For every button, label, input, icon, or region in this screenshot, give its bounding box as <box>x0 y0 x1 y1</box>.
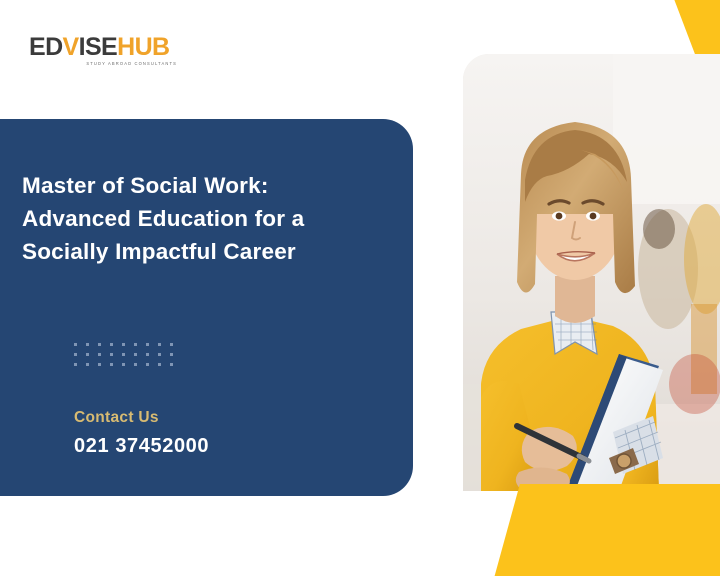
headline-line-3: Socially Impactful Career <box>22 235 372 268</box>
brand-name-accent-v: V <box>63 33 79 61</box>
brand-logo-wordmark: EDVISEHUB <box>29 34 179 60</box>
contact-phone-number[interactable]: 021 37452000 <box>74 435 209 458</box>
promotional-poster: Master of Social Work: Advanced Educatio… <box>0 0 720 576</box>
headline-line-2: Advanced Education for a <box>22 202 372 235</box>
student-photo <box>463 54 720 491</box>
content-panel: Master of Social Work: Advanced Educatio… <box>0 119 413 496</box>
headline: Master of Social Work: Advanced Educatio… <box>22 169 372 268</box>
brand-name-part3: HUB <box>117 33 169 61</box>
student-photo-illustration <box>463 54 720 491</box>
dot-grid-decoration <box>74 343 182 373</box>
brand-name-part2: ISE <box>79 33 118 61</box>
yellow-block-bottom-right <box>490 484 720 576</box>
brand-logo[interactable]: EDVISEHUB STUDY ABROAD CONSULTANTS <box>29 34 179 72</box>
contact-label: Contact Us <box>74 409 159 427</box>
headline-line-1: Master of Social Work: <box>22 169 372 202</box>
brand-tagline: STUDY ABROAD CONSULTANTS <box>29 61 179 66</box>
brand-name-part1: ED <box>29 33 63 61</box>
